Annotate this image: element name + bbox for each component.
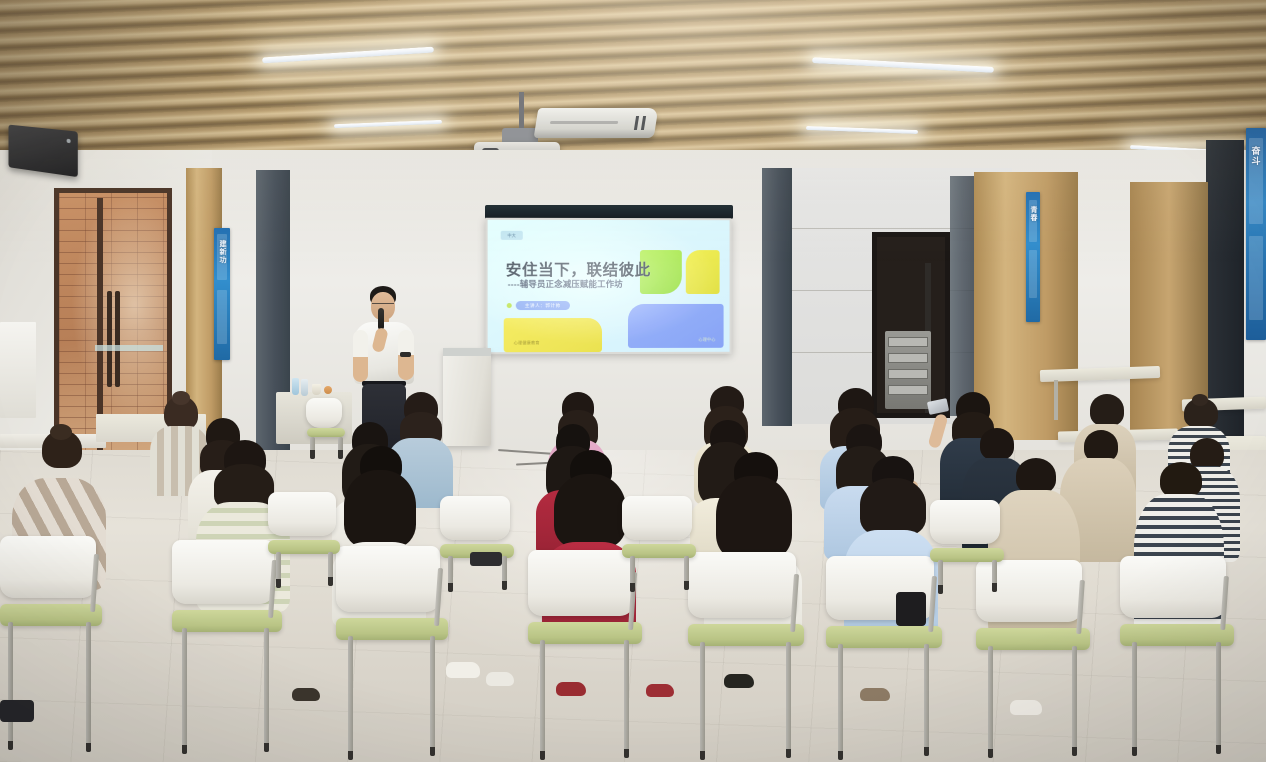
chair-front-3[interactable] bbox=[336, 546, 452, 762]
chair-back bbox=[268, 492, 336, 536]
presenter-left-arm bbox=[353, 330, 368, 382]
hair-bun bbox=[172, 391, 190, 405]
chair-leg-front bbox=[1132, 642, 1137, 756]
shoe-red-1 bbox=[556, 682, 586, 696]
banner-left-pillar: 建新功 bbox=[214, 228, 230, 360]
shoe-black-flat bbox=[724, 674, 754, 688]
water-bottle-1 bbox=[292, 378, 299, 395]
chair-back bbox=[0, 536, 96, 598]
ac-slot-b bbox=[634, 116, 639, 130]
door-crossbar bbox=[95, 345, 163, 351]
chair-leg-front bbox=[182, 628, 187, 754]
chair-back bbox=[336, 546, 440, 612]
shoe-white-3 bbox=[1010, 700, 1042, 715]
shoe-red-2 bbox=[646, 684, 674, 697]
grey-column-mid bbox=[762, 168, 792, 426]
chair-leg-back bbox=[430, 636, 435, 756]
shoe-sandal bbox=[860, 688, 890, 701]
chair-mid-1[interactable] bbox=[268, 492, 342, 588]
presenter-watch bbox=[400, 352, 411, 357]
banner-large-text: 奋斗 bbox=[1250, 146, 1263, 166]
slide-subtitle: ----辅导员正念减压赋能工作坊 bbox=[508, 278, 623, 290]
slide-logo-badge: 中大 bbox=[501, 231, 523, 240]
chair-front-8[interactable] bbox=[1120, 556, 1238, 762]
rack-unit-2 bbox=[888, 353, 928, 363]
chair-leg-front bbox=[838, 644, 843, 760]
shoe-white-2 bbox=[486, 672, 514, 686]
chair-back bbox=[440, 496, 510, 540]
chair-leg-front bbox=[988, 646, 993, 758]
chair-leg-back bbox=[1072, 646, 1077, 756]
chair-front-1[interactable] bbox=[0, 536, 104, 756]
chair-leg bbox=[684, 556, 689, 590]
chair-front-5[interactable] bbox=[688, 552, 808, 762]
slide-yellow-tag: 心理健康教育 bbox=[514, 340, 540, 346]
workshop-room-photo: 建新功 青春 奋斗 中大 心理中心 心理健康教育 安住当下，联结彼此 ----辅… bbox=[0, 0, 1266, 762]
chair-leg-front bbox=[348, 636, 353, 760]
banner-left-block-bottom bbox=[217, 290, 227, 344]
chair-leg-front bbox=[540, 640, 545, 760]
chair-leg-back bbox=[786, 642, 791, 758]
hair bbox=[1016, 458, 1056, 494]
handbag-on-floor bbox=[470, 552, 502, 566]
chair-leg-back bbox=[924, 644, 929, 756]
slide-speaker-pill: 主讲人：郭计帅 bbox=[516, 301, 570, 310]
chair-mid-4[interactable] bbox=[930, 500, 1006, 594]
ac-slot-a bbox=[641, 116, 646, 130]
orange-item bbox=[324, 386, 332, 394]
chair-back bbox=[1120, 556, 1226, 618]
chair-leg bbox=[630, 556, 635, 592]
smartphone[interactable] bbox=[927, 398, 949, 415]
hair bbox=[1160, 462, 1202, 498]
hair-bun bbox=[1192, 394, 1208, 406]
chair-leg-front bbox=[700, 642, 705, 760]
hair-length bbox=[554, 474, 626, 548]
chair-leg-back bbox=[264, 628, 269, 752]
hair-length bbox=[344, 470, 416, 548]
rack-unit-3 bbox=[888, 369, 928, 379]
chair-leg bbox=[938, 560, 943, 594]
hair-length bbox=[716, 476, 792, 560]
chair-mid-2[interactable] bbox=[440, 496, 516, 592]
slide-title: 安住当下，联结彼此 bbox=[506, 258, 651, 280]
hair-length bbox=[860, 478, 926, 536]
presentation-slide: 中大 心理中心 心理健康教育 安住当下，联结彼此 ----辅导员正念减压赋能工作… bbox=[488, 220, 730, 352]
speaker-led-icon bbox=[67, 139, 71, 144]
slide-shape-blue: 心理中心 bbox=[628, 304, 724, 348]
projection-screen: 中大 心理中心 心理健康教育 安住当下，联结彼此 ----辅导员正念减压赋能工作… bbox=[486, 218, 732, 354]
slide-bullet-dot-icon bbox=[507, 303, 512, 308]
chair-back bbox=[528, 550, 634, 616]
grey-column-right bbox=[950, 176, 974, 416]
chair-back bbox=[172, 540, 274, 604]
rack-unit-4 bbox=[888, 385, 928, 395]
slide-shape-yellow-small bbox=[686, 250, 720, 294]
hair-bun bbox=[50, 424, 72, 440]
chair-leg-front bbox=[8, 622, 13, 750]
bag-black-right bbox=[896, 592, 926, 626]
shoe-dark-1 bbox=[292, 688, 320, 701]
door-handle-secondary[interactable] bbox=[115, 291, 120, 387]
chair-leg bbox=[992, 560, 997, 592]
banner-large-block-bottom bbox=[1249, 236, 1263, 320]
chair-leg bbox=[448, 556, 453, 592]
air-conditioner-unit bbox=[534, 108, 659, 138]
slide-blue-tag: 心理中心 bbox=[699, 337, 716, 343]
right-desk-leg-1 bbox=[1054, 380, 1058, 420]
chair-leg-back bbox=[1216, 642, 1221, 754]
ac-vent-line bbox=[550, 121, 618, 124]
chair-front-6[interactable] bbox=[826, 556, 946, 762]
chair-leg bbox=[276, 552, 281, 588]
banner-right-text: 青春 bbox=[1028, 206, 1038, 222]
left-whiteboard bbox=[0, 322, 36, 418]
chair-leg bbox=[310, 437, 315, 459]
handheld-microphone[interactable] bbox=[378, 308, 384, 330]
lectern-top bbox=[443, 348, 491, 356]
presenter-glasses bbox=[372, 303, 394, 306]
banner-left-text: 建新功 bbox=[217, 240, 227, 264]
banner-right-pillar: 青春 bbox=[1026, 192, 1040, 322]
paper-cup bbox=[312, 384, 321, 395]
chair-back bbox=[688, 552, 796, 618]
chair-back bbox=[622, 496, 692, 540]
banner-right-block-bottom bbox=[1029, 250, 1037, 298]
slide-shape-yellow-large: 心理健康教育 bbox=[504, 318, 602, 352]
banner-far-right-wall: 奋斗 bbox=[1246, 128, 1266, 340]
chair-leg-back bbox=[624, 640, 629, 758]
hair bbox=[1090, 394, 1124, 426]
chair-leg-back bbox=[86, 622, 91, 752]
hair bbox=[980, 428, 1014, 460]
rack-unit-1 bbox=[888, 337, 928, 347]
chair-leg bbox=[502, 556, 507, 590]
chair-leg bbox=[328, 552, 333, 586]
chair-mid-3[interactable] bbox=[622, 496, 698, 592]
shoe-white-1 bbox=[446, 662, 480, 678]
door-handle[interactable] bbox=[107, 291, 112, 387]
water-bottle-2 bbox=[301, 379, 308, 396]
bag-left-floor bbox=[0, 700, 34, 722]
chair-back bbox=[930, 500, 1000, 544]
equipment-rack bbox=[885, 331, 931, 409]
